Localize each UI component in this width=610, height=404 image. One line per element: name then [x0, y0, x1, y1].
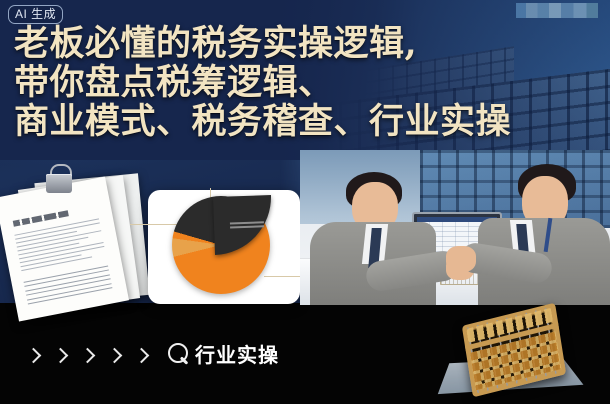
pie-slice-label: [230, 221, 264, 230]
poster-root: AI 生成 老板必懂的税务实操逻辑, 带你盘点税筹逻辑、 商业模式、税务稽查、行…: [0, 0, 610, 404]
businessman-right: [460, 164, 606, 305]
pie-chart-card: [148, 190, 300, 304]
chevron-arrow-group: [28, 348, 147, 368]
chevron-right-icon: [136, 348, 147, 368]
binder-clip-icon: [42, 164, 76, 194]
pixelated-watermark-patch: [516, 3, 598, 18]
ai-generated-badge: AI 生成: [8, 5, 63, 24]
chevron-right-icon: [82, 348, 93, 368]
businessman-right-hand: [446, 246, 476, 272]
search-keyword-label: 行业实操: [195, 344, 279, 366]
page-title: 老板必懂的税务实操逻辑, 带你盘点税筹逻辑、 商业模式、税务稽查、行业实操: [14, 24, 604, 141]
stack-of-documents-with-binder-clip: [0, 168, 142, 308]
wooden-abacus: [452, 312, 610, 404]
document-heading-text: [13, 210, 69, 227]
headline-line-2: 带你盘点税筹逻辑、: [14, 63, 604, 102]
binder-clip-body: [46, 174, 72, 193]
chevron-right-icon: [109, 348, 120, 368]
headline-line-3: 商业模式、税务稽查、行业实操: [14, 102, 604, 141]
headline-line-1: 老板必懂的税务实操逻辑,: [14, 24, 604, 63]
two-businessmen-handshake-photo: [300, 150, 610, 305]
pie-leader-line-left: [130, 224, 178, 225]
chevron-right-icon: [28, 348, 39, 368]
search-keyword-row[interactable]: 行业实操: [168, 343, 279, 366]
document-table-rows: [24, 266, 113, 308]
chevron-right-icon: [55, 348, 66, 368]
businessman-left: [308, 172, 448, 305]
document-body-text: [14, 218, 106, 274]
search-icon: [168, 343, 191, 366]
